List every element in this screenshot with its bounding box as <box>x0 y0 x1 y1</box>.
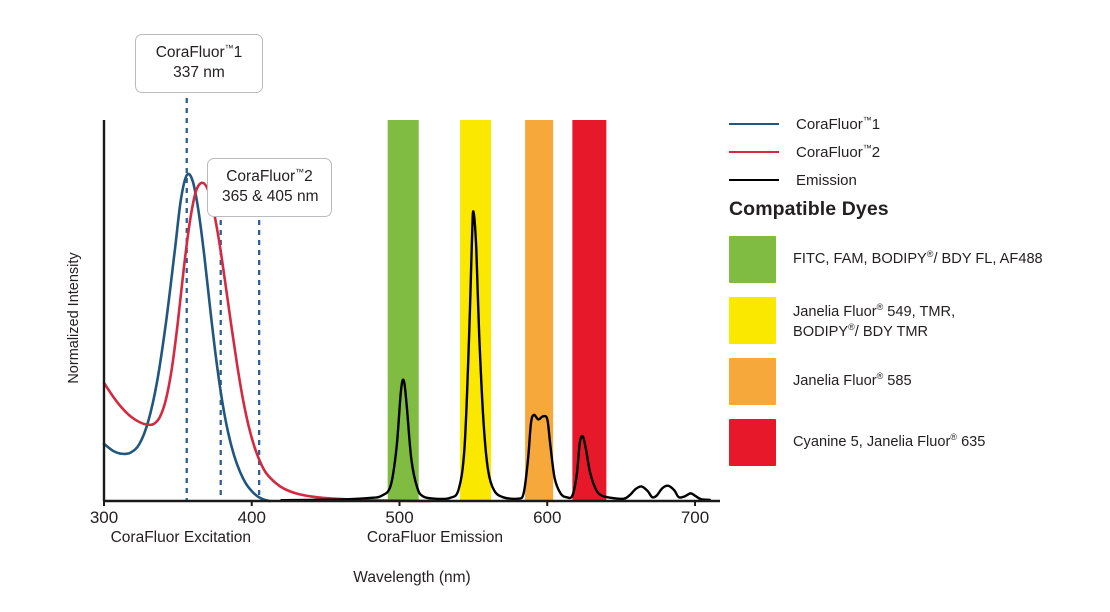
region-label-excitation: CoraFluor Excitation <box>111 529 251 546</box>
callout-cf1-value: 337 nm <box>150 63 248 83</box>
x-tick-label-500: 500 <box>385 508 413 527</box>
x-tick-label-300: 300 <box>90 508 118 527</box>
chart-figure: 300400500600700CoraFluor ExcitationCoraF… <box>0 0 1110 612</box>
callout-cf2-title: CoraFluor™2 <box>222 167 317 187</box>
emission-band-4 <box>572 120 606 501</box>
legend-item-1: CoraFluor™1 <box>729 110 1079 138</box>
dye-color-swatch <box>729 297 776 344</box>
curve-corafluor2 <box>104 183 429 501</box>
legend-item-3: Emission <box>729 166 1079 194</box>
compatible-dyes-list: FITC, FAM, BODIPY®/ BDY FL, AF488Janelia… <box>729 236 1089 480</box>
dye-color-swatch <box>729 419 776 466</box>
trademark-icon: ™ <box>295 167 304 177</box>
legend-item-label: CoraFluor™1 <box>796 115 880 133</box>
curve-emission <box>281 211 709 500</box>
axis-tick-labels: 300400500600700CoraFluor ExcitationCoraF… <box>66 252 709 586</box>
callout-corafluor-1: CoraFluor™1 337 nm <box>135 34 263 93</box>
excitation-marker-lines <box>187 88 259 501</box>
dye-row-2: Janelia Fluor® 549, TMR,BODIPY®/ BDY TMR <box>729 297 1089 344</box>
x-tick-label-400: 400 <box>238 508 266 527</box>
x-axis-title: Wavelength (nm) <box>353 569 470 586</box>
legend-line-swatch <box>729 151 779 153</box>
legend-line-swatch <box>729 123 779 125</box>
trademark-icon: ™ <box>225 43 234 53</box>
x-tick-label-600: 600 <box>533 508 561 527</box>
dye-row-1: FITC, FAM, BODIPY®/ BDY FL, AF488 <box>729 236 1089 283</box>
emission-band-1 <box>388 120 419 501</box>
callout-corafluor-2: CoraFluor™2 365 & 405 nm <box>207 158 332 217</box>
region-label-emission: CoraFluor Emission <box>367 529 503 546</box>
legend-item-label: CoraFluor™2 <box>796 143 880 161</box>
legend-item-2: CoraFluor™2 <box>729 138 1079 166</box>
dye-row-3: Janelia Fluor® 585 <box>729 358 1089 405</box>
trademark-icon: ™ <box>863 143 872 153</box>
dye-row-4: Cyanine 5, Janelia Fluor® 635 <box>729 419 1089 466</box>
chart-legend: CoraFluor™1CoraFluor™2Emission <box>729 110 1079 194</box>
trademark-icon: ™ <box>863 115 872 125</box>
callout-cf2-value: 365 & 405 nm <box>222 187 317 207</box>
y-axis-title: Normalized Intensity <box>66 252 82 384</box>
dye-label: FITC, FAM, BODIPY®/ BDY FL, AF488 <box>793 236 1043 269</box>
registered-icon: ® <box>848 322 855 332</box>
emission-band-group <box>388 120 607 501</box>
dye-label: Cyanine 5, Janelia Fluor® 635 <box>793 419 985 452</box>
callout-cf1-title: CoraFluor™1 <box>150 43 248 63</box>
legend-item-label: Emission <box>796 172 857 189</box>
dye-color-swatch <box>729 358 776 405</box>
compatible-dyes-title: Compatible Dyes <box>729 198 889 221</box>
x-tick-label-700: 700 <box>681 508 709 527</box>
dye-color-swatch <box>729 236 776 283</box>
legend-line-swatch <box>729 179 779 181</box>
dye-label: Janelia Fluor® 585 <box>793 358 912 391</box>
dye-label: Janelia Fluor® 549, TMR,BODIPY®/ BDY TMR <box>793 297 955 342</box>
